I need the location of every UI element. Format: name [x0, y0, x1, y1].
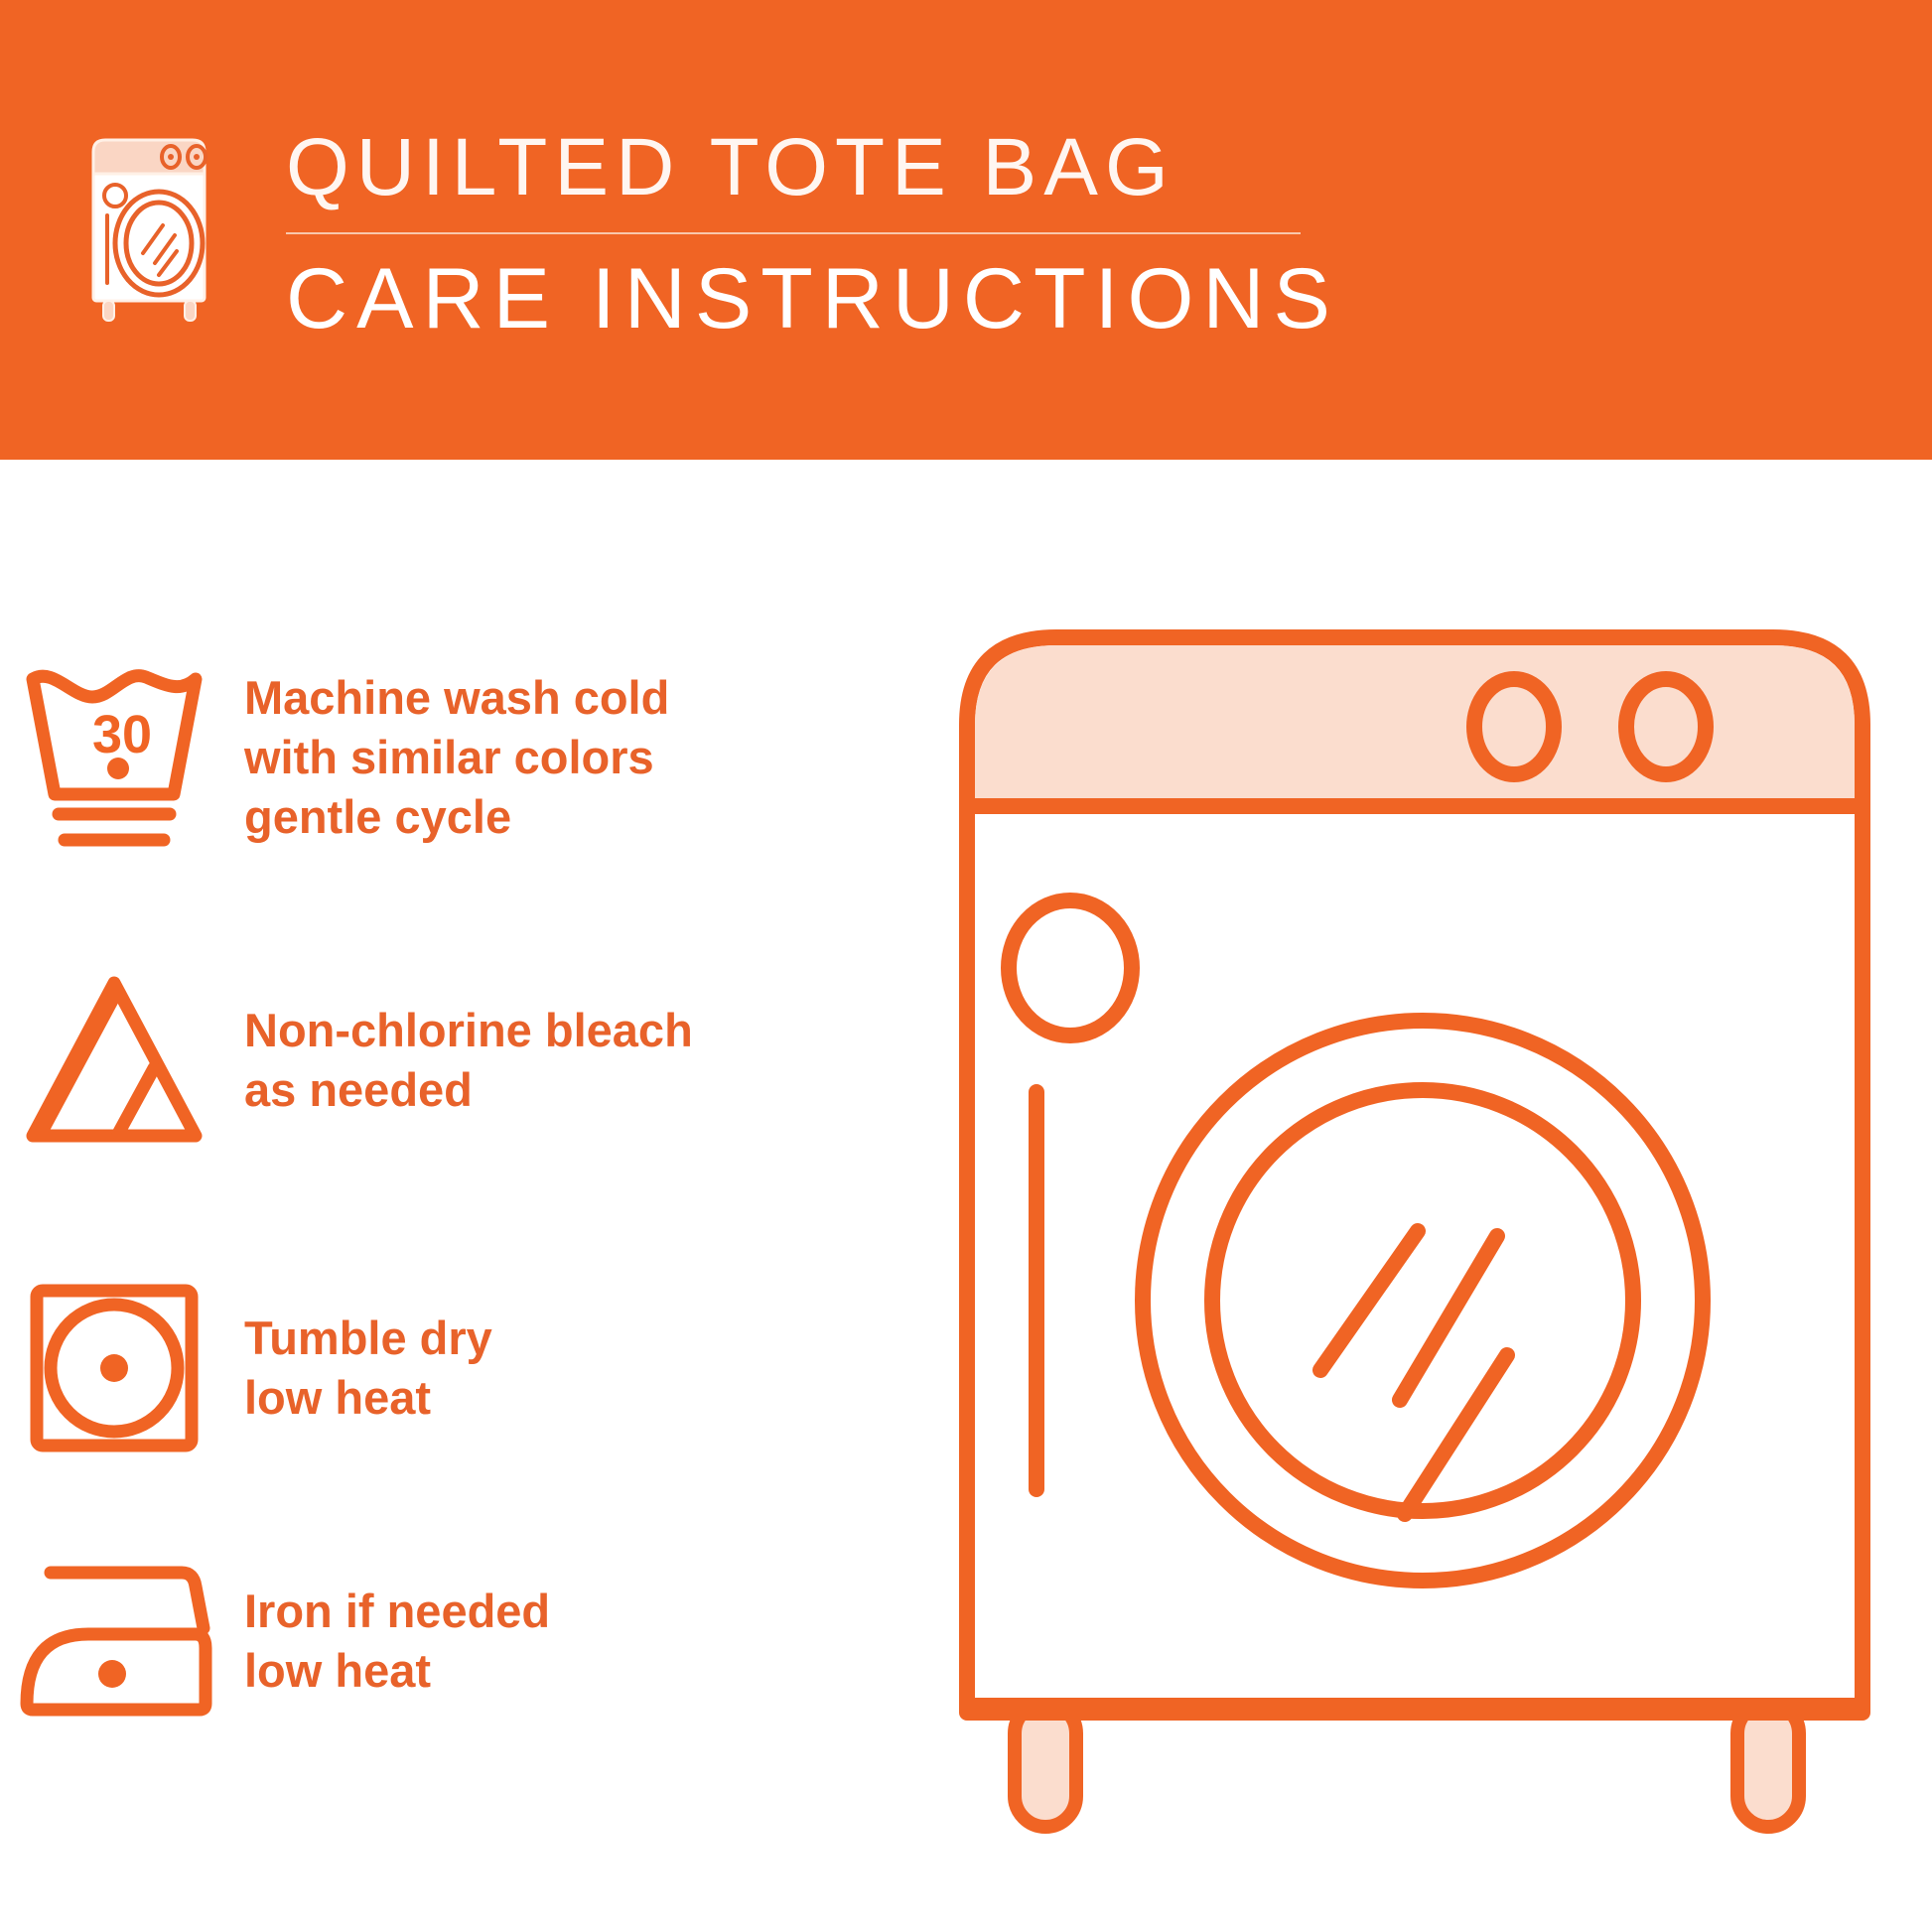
- care-label-line: with similar colors: [244, 728, 669, 787]
- care-row-tumble-dry: Tumble dry low heat: [0, 1264, 894, 1472]
- title-divider: [286, 232, 1301, 234]
- washing-machine-illustration: [953, 616, 1876, 1857]
- page-title-product: QUILTED TOTE BAG: [286, 127, 1338, 208]
- care-label-machine-wash: Machine wash cold with similar colors ge…: [228, 668, 669, 846]
- care-label-bleach: Non-chlorine bleach as needed: [228, 1001, 693, 1119]
- care-label-line: gentle cycle: [244, 787, 669, 847]
- care-row-iron: Iron if needed low heat: [0, 1537, 894, 1745]
- wash-basin-30-icon: 30: [0, 658, 228, 857]
- page-title-subtitle: CARE INSTRUCTIONS: [286, 256, 1338, 342]
- care-row-machine-wash: 30 Machine wash cold with similar colors…: [0, 653, 894, 862]
- leg-right: [1737, 1703, 1799, 1827]
- care-label-iron: Iron if needed low heat: [228, 1582, 550, 1700]
- control-panel: [975, 645, 1855, 806]
- bleach-triangle-icon: [0, 961, 228, 1160]
- care-row-bleach: Non-chlorine bleach as needed: [0, 956, 894, 1165]
- care-label-line: Tumble dry: [244, 1309, 492, 1368]
- care-instructions-page: QUILTED TOTE BAG CARE INSTRUCTIONS 30: [0, 0, 1932, 1932]
- leg-left: [1015, 1703, 1076, 1827]
- care-instruction-list: 30 Machine wash cold with similar colors…: [0, 460, 943, 1932]
- care-label-line: Iron if needed: [244, 1582, 550, 1641]
- care-label-line: as needed: [244, 1060, 693, 1120]
- care-label-line: Non-chlorine bleach: [244, 1001, 693, 1060]
- iron-icon: [0, 1542, 228, 1740]
- care-label-tumble-dry: Tumble dry low heat: [228, 1309, 492, 1427]
- care-label-line: low heat: [244, 1368, 492, 1428]
- tumble-dry-square-icon: [0, 1269, 228, 1467]
- washing-machine-icon: [77, 134, 226, 323]
- header-title-group: QUILTED TOTE BAG CARE INSTRUCTIONS: [286, 127, 1338, 342]
- care-label-line: low heat: [244, 1641, 550, 1701]
- wash-temp-label: 30: [92, 705, 152, 764]
- header-banner: QUILTED TOTE BAG CARE INSTRUCTIONS: [0, 0, 1932, 460]
- care-label-line: Machine wash cold: [244, 668, 669, 728]
